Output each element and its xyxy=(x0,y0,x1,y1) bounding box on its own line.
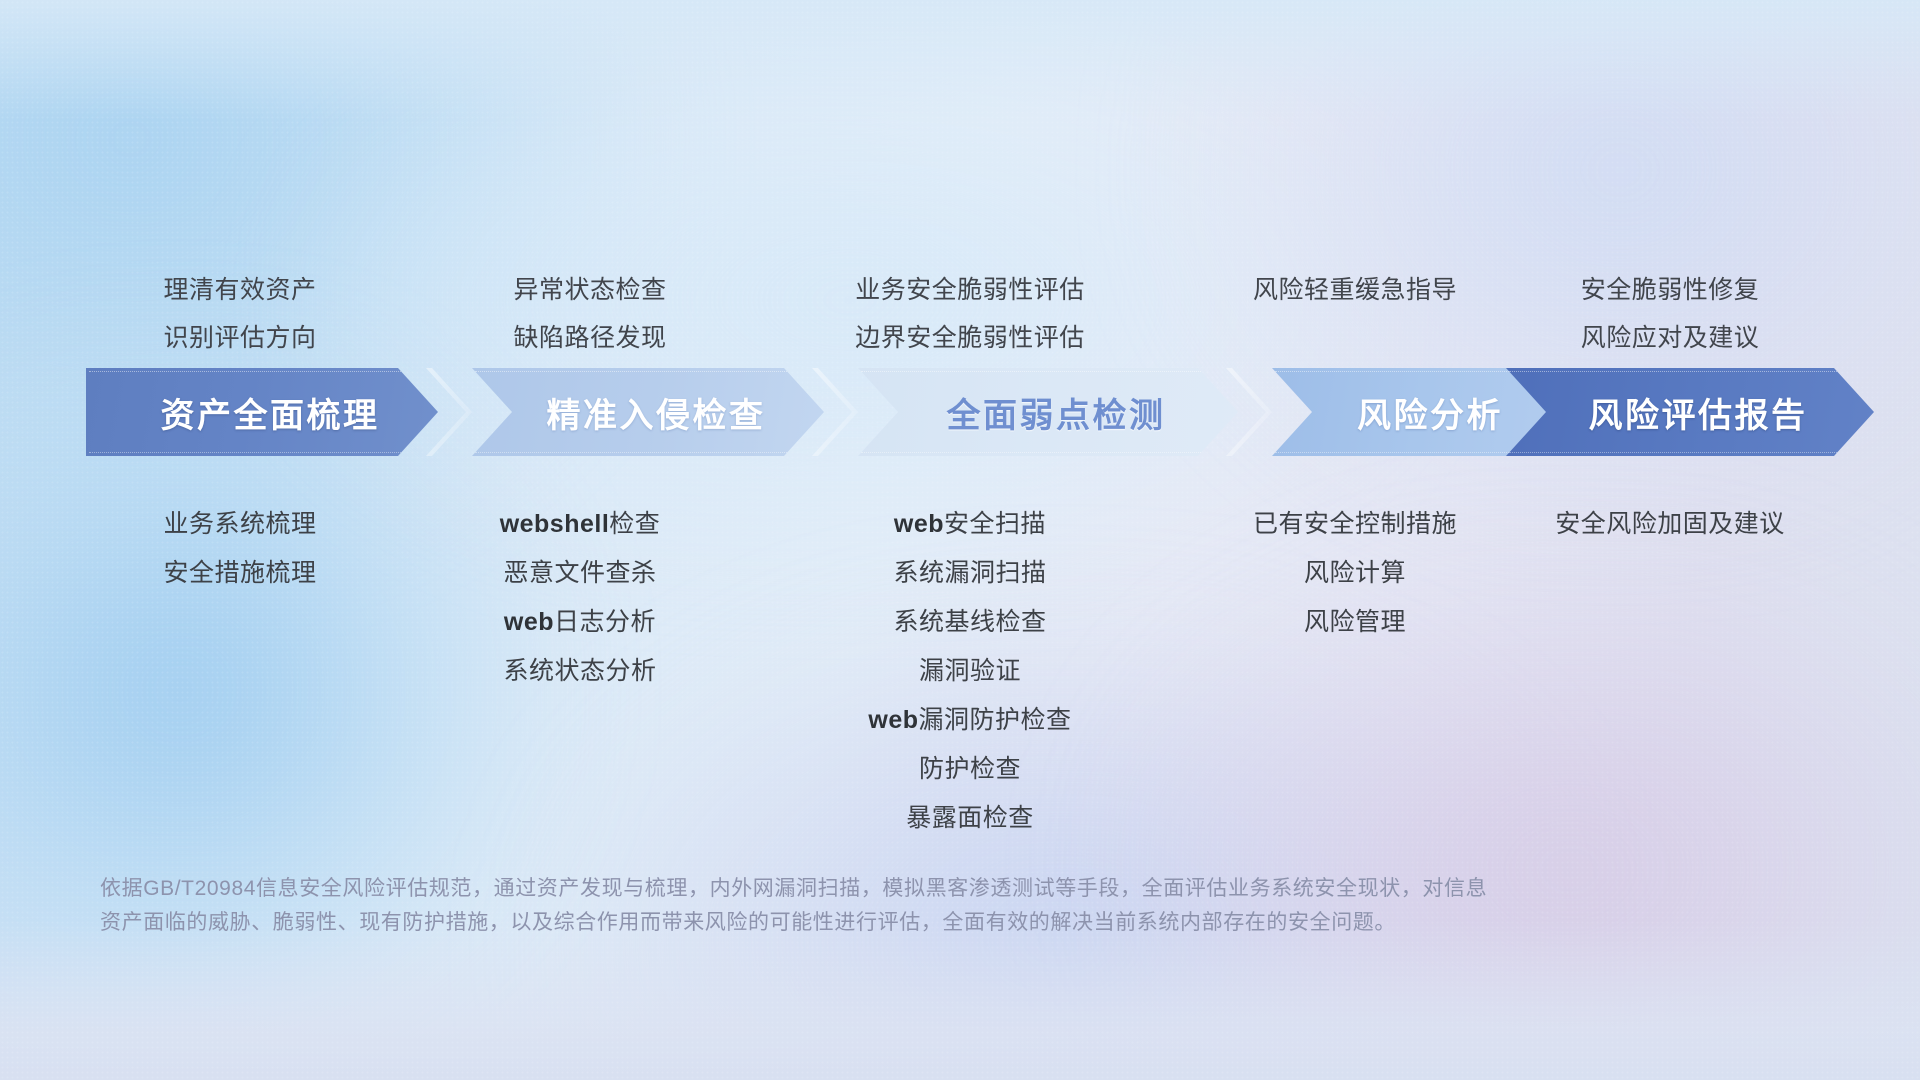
note-text: 边界安全脆弱性评估 xyxy=(770,314,1170,362)
list-item: webshell检查 xyxy=(430,500,730,549)
stage-title: 风险评估报告 xyxy=(1589,388,1808,437)
list-item: 安全风险加固及建议 xyxy=(1510,500,1830,549)
list-item: 暴露面检查 xyxy=(780,794,1160,843)
stage-1-top-notes: 理清有效资产 识别评估方向 xyxy=(90,0,390,362)
list-item: web日志分析 xyxy=(430,598,730,647)
list-item: 风险管理 xyxy=(1180,598,1530,647)
list-item: web安全扫描 xyxy=(780,500,1160,549)
stage-3-top-notes: 业务安全脆弱性评估 边界安全脆弱性评估 xyxy=(770,0,1170,362)
stage-2-top-notes: 异常状态检查 缺陷路径发现 xyxy=(440,0,740,362)
list-item: 已有安全控制措施 xyxy=(1180,500,1530,549)
stage-chevron-risk-report[interactable]: 风险评估报告 xyxy=(1506,368,1874,456)
footer-line-1: 依据GB/T20984信息安全风险评估规范，通过资产发现与梳理，内外网漏洞扫描，… xyxy=(100,872,1700,906)
list-item: 风险计算 xyxy=(1180,549,1530,598)
bottom-items-row: 业务系统梳理 安全措施梳理 webshell检查 恶意文件查杀 web日志分析 … xyxy=(90,500,1830,880)
note-text: 风险轻重缓急指导 xyxy=(1180,266,1530,314)
stage-title: 全面弱点检测 xyxy=(947,388,1166,437)
list-item: 恶意文件查杀 xyxy=(430,549,730,598)
stage-title: 风险分析 xyxy=(1357,388,1503,437)
list-item: 系统基线检查 xyxy=(780,598,1160,647)
slide-canvas: 理清有效资产 识别评估方向 异常状态检查 缺陷路径发现 业务安全脆弱性评估 边界… xyxy=(0,0,1920,1080)
list-item: 系统状态分析 xyxy=(430,647,730,696)
stage-4-top-notes: 风险轻重缓急指导 xyxy=(1180,0,1530,314)
stage-chevron-weakness-detection[interactable]: 全面弱点检测 xyxy=(858,368,1238,456)
list-item: 系统漏洞扫描 xyxy=(780,549,1160,598)
footer-description: 依据GB/T20984信息安全风险评估规范，通过资产发现与梳理，内外网漏洞扫描，… xyxy=(100,872,1700,940)
note-text: 异常状态检查 xyxy=(440,266,740,314)
stage-5-top-notes: 安全脆弱性修复 风险应对及建议 xyxy=(1510,0,1830,362)
note-text: 理清有效资产 xyxy=(90,266,390,314)
list-item: 业务系统梳理 xyxy=(90,500,390,549)
note-text: 安全脆弱性修复 xyxy=(1510,266,1830,314)
list-item: 防护检查 xyxy=(780,745,1160,794)
stage-chevron-asset-inventory[interactable]: 资产全面梳理 xyxy=(86,368,438,456)
stage-title: 资产全面梳理 xyxy=(161,388,380,437)
diagram-content: 理清有效资产 识别评估方向 异常状态检查 缺陷路径发现 业务安全脆弱性评估 边界… xyxy=(0,0,1920,1080)
list-item-keyword: web xyxy=(894,510,944,538)
process-chevron-strip: 资产全面梳理 精准入侵检查 全面弱点检测 风险分析 风险评估报告 xyxy=(86,368,1834,456)
note-text: 业务安全脆弱性评估 xyxy=(770,266,1170,314)
stage-title: 精准入侵检查 xyxy=(547,388,766,437)
note-text: 识别评估方向 xyxy=(90,314,390,362)
note-text: 缺陷路径发现 xyxy=(440,314,740,362)
list-item: web漏洞防护检查 xyxy=(780,696,1160,745)
note-text: 风险应对及建议 xyxy=(1510,314,1830,362)
list-item-keyword: webshell xyxy=(500,510,610,538)
stage-chevron-intrusion-check[interactable]: 精准入侵检查 xyxy=(472,368,824,456)
footer-line-2: 资产面临的威胁、脆弱性、现有防护措施，以及综合作用而带来风险的可能性进行评估，全… xyxy=(100,906,1700,940)
list-item-keyword: web xyxy=(504,608,554,636)
list-item: 安全措施梳理 xyxy=(90,549,390,598)
list-item-keyword: web xyxy=(868,706,918,734)
list-item: 漏洞验证 xyxy=(780,647,1160,696)
